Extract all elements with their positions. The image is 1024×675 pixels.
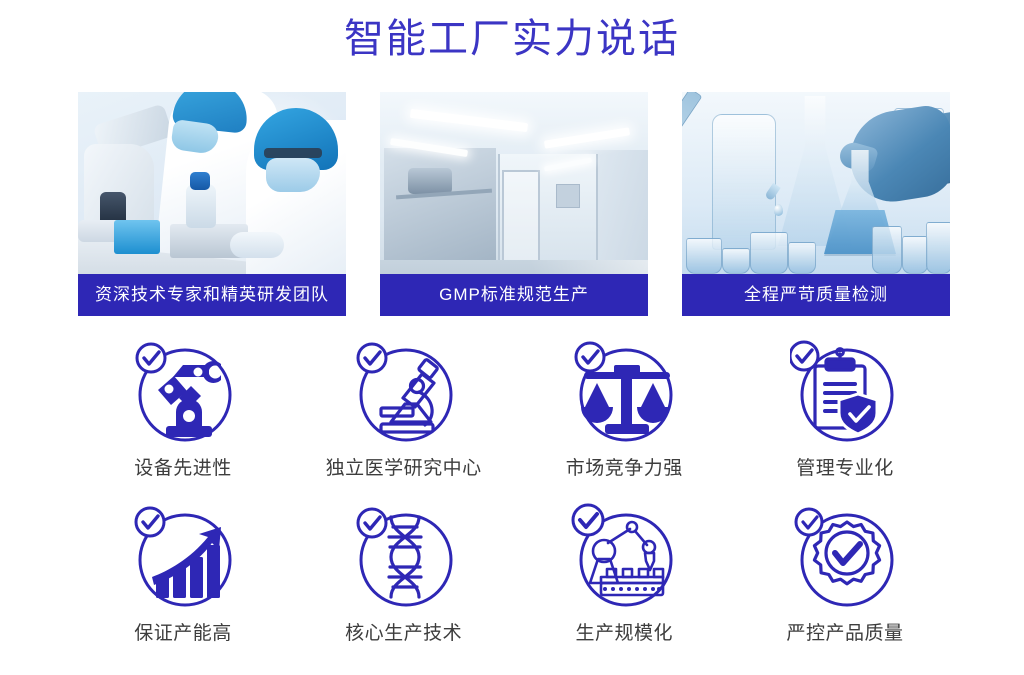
microscope-icon <box>349 338 459 448</box>
clipboard-shield-icon <box>790 338 900 448</box>
feature-label: 市场竞争力强 <box>519 456 729 482</box>
feature-label: 管理专业化 <box>740 456 950 482</box>
photo-card-team[interactable]: 资深技术专家和精英研发团队 <box>78 92 346 316</box>
feature-label: 核心生产技术 <box>299 621 509 647</box>
feature-item-management[interactable]: 管理专业化 <box>740 338 950 503</box>
feature-item-scale-production[interactable]: 生产规模化 <box>519 503 729 668</box>
photo-card-caption: 全程严苛质量检测 <box>682 274 950 316</box>
feature-row-2: 保证产能高 <box>78 503 950 668</box>
assembly-line-robot-icon <box>569 503 679 613</box>
photo-card-row: 资深技术专家和精英研发团队 <box>78 92 950 316</box>
feature-label: 保证产能高 <box>78 621 288 647</box>
feature-label: 独立医学研究中心 <box>299 456 509 482</box>
feature-row-1: 设备先进性 <box>78 338 950 503</box>
feature-item-market[interactable]: 市场竞争力强 <box>519 338 729 503</box>
feature-item-core-tech[interactable]: 核心生产技术 <box>299 503 509 668</box>
page-title: 智能工厂实力说话 <box>0 12 1024 66</box>
dna-helix-icon <box>349 503 459 613</box>
photo-card-gmp[interactable]: GMP标准规范生产 <box>380 92 648 316</box>
growth-bar-chart-icon <box>128 503 238 613</box>
photo-card-caption: 资深技术专家和精英研发团队 <box>78 274 346 316</box>
photo-card-qc[interactable]: 全程严苛质量检测 <box>682 92 950 316</box>
feature-label: 严控产品质量 <box>740 621 950 647</box>
feature-item-capacity[interactable]: 保证产能高 <box>78 503 288 668</box>
robot-arm-icon <box>128 338 238 448</box>
feature-item-quality-control[interactable]: 严控产品质量 <box>740 503 950 668</box>
feature-label: 生产规模化 <box>519 621 729 647</box>
balance-scales-icon <box>569 338 679 448</box>
infographic-page: 智能工厂实力说话 <box>0 0 1024 675</box>
photo-card-caption: GMP标准规范生产 <box>380 274 648 316</box>
feature-label: 设备先进性 <box>78 456 288 482</box>
feature-item-research-center[interactable]: 独立医学研究中心 <box>299 338 509 503</box>
feature-item-equipment[interactable]: 设备先进性 <box>78 338 288 503</box>
feature-grid: 设备先进性 <box>78 338 950 668</box>
quality-seal-check-icon <box>790 503 900 613</box>
